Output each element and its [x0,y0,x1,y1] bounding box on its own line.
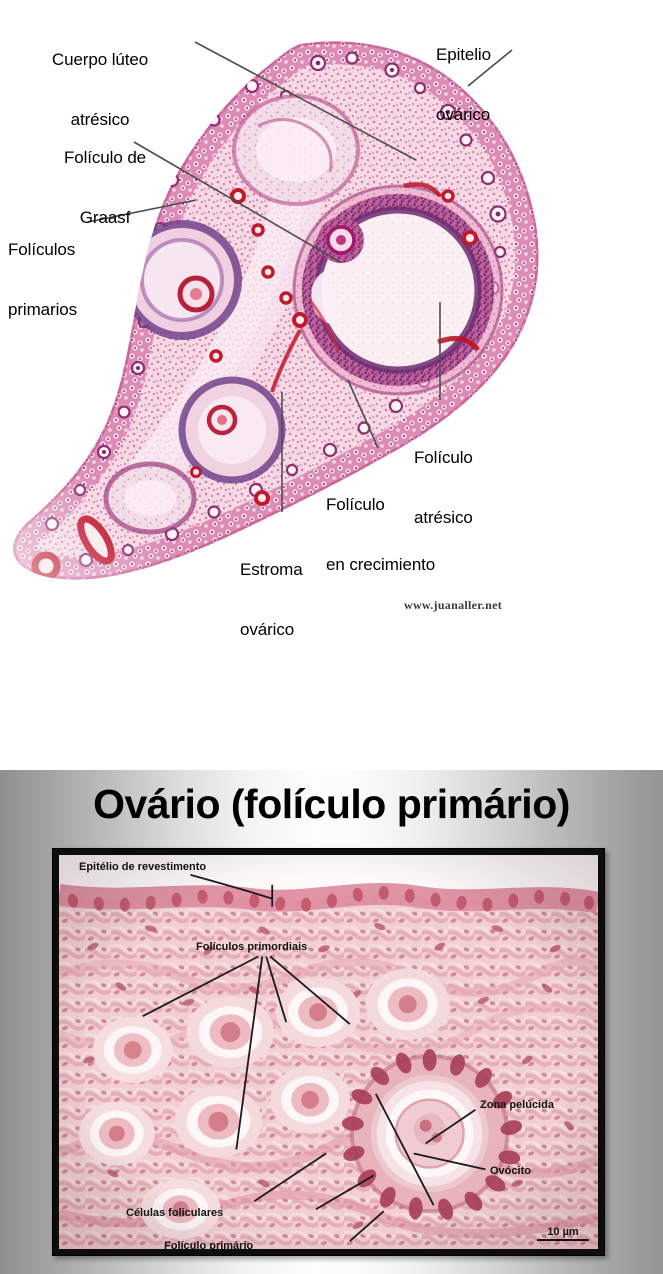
label-line: Folículo [326,495,496,515]
primary-follicle-micrograph [59,855,598,1249]
label-foliculos-primordiais: Folículos primordiais [196,941,307,954]
label-line: Epitelio [436,45,566,65]
label-epitelio-ovarico: Epitelio ovárico [436,5,566,165]
label-line: Cuerpo lúteo [20,50,180,70]
top-figure-panel: Cuerpo lúteo atrésico Epitelio ovárico F… [0,0,663,770]
label-estroma-ovarico: Estroma ovárico [240,520,360,680]
label-epitelio-de-revestimento: Epitélio de revestimento [79,861,206,874]
watermark-juanaller: www.juanaller.net [404,598,502,613]
scale-bar-label: 10 µm [537,1226,589,1238]
label-line: primarios [8,300,128,320]
label-ovocito: Ovócito [490,1165,531,1178]
label-line: Folículos [8,240,128,260]
bottom-figure-panel: Ovário (folículo primário) [0,770,663,1274]
label-line: Estroma [240,560,360,580]
label-foliculos-primarios: Folículos primarios [8,200,128,360]
label-zona-pelucida: Zona pelúcida [480,1099,554,1112]
page-title: Ovário (folículo primário) [0,781,663,827]
scale-bar-line [537,1239,589,1241]
micrograph-inner: Epitélio de revestimento Folículos primo… [59,855,598,1249]
scale-bar: 10 µm [537,1226,589,1241]
micrograph-frame: Epitélio de revestimento Folículos primo… [52,848,605,1256]
label-foliculo-primario: Folículo primário [164,1240,253,1249]
label-line: ovárico [436,105,566,125]
label-line: ovárico [240,620,360,640]
label-line: Folículo de [40,148,170,168]
label-celulas-foliculares: Células foliculares [126,1207,223,1220]
